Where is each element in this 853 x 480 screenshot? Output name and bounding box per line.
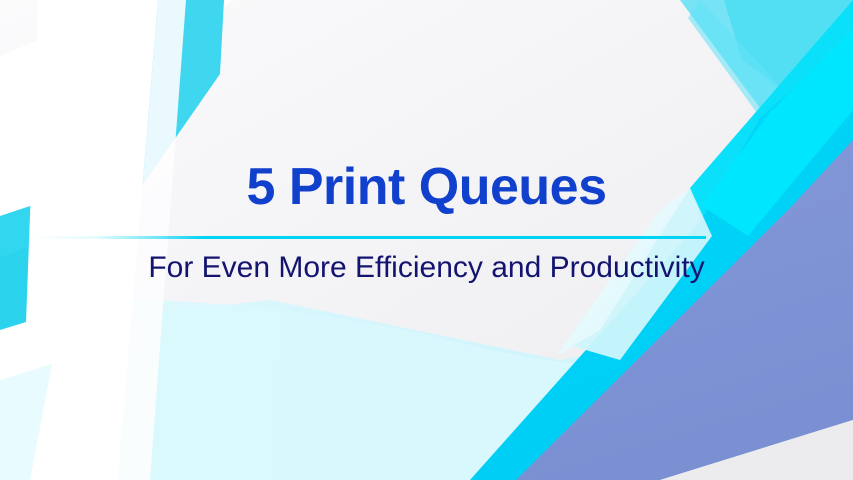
page-subtitle: For Even More Efficiency and Productivit… (0, 250, 853, 286)
presentation-slide: 5 Print Queues For Even More Efficiency … (0, 0, 853, 480)
subtitle-block: For Even More Efficiency and Productivit… (0, 250, 853, 286)
page-title: 5 Print Queues (0, 160, 853, 215)
title-block: 5 Print Queues (0, 160, 853, 215)
divider-line (28, 236, 706, 239)
title-divider (28, 236, 706, 239)
slide-content: 5 Print Queues For Even More Efficiency … (0, 0, 853, 480)
